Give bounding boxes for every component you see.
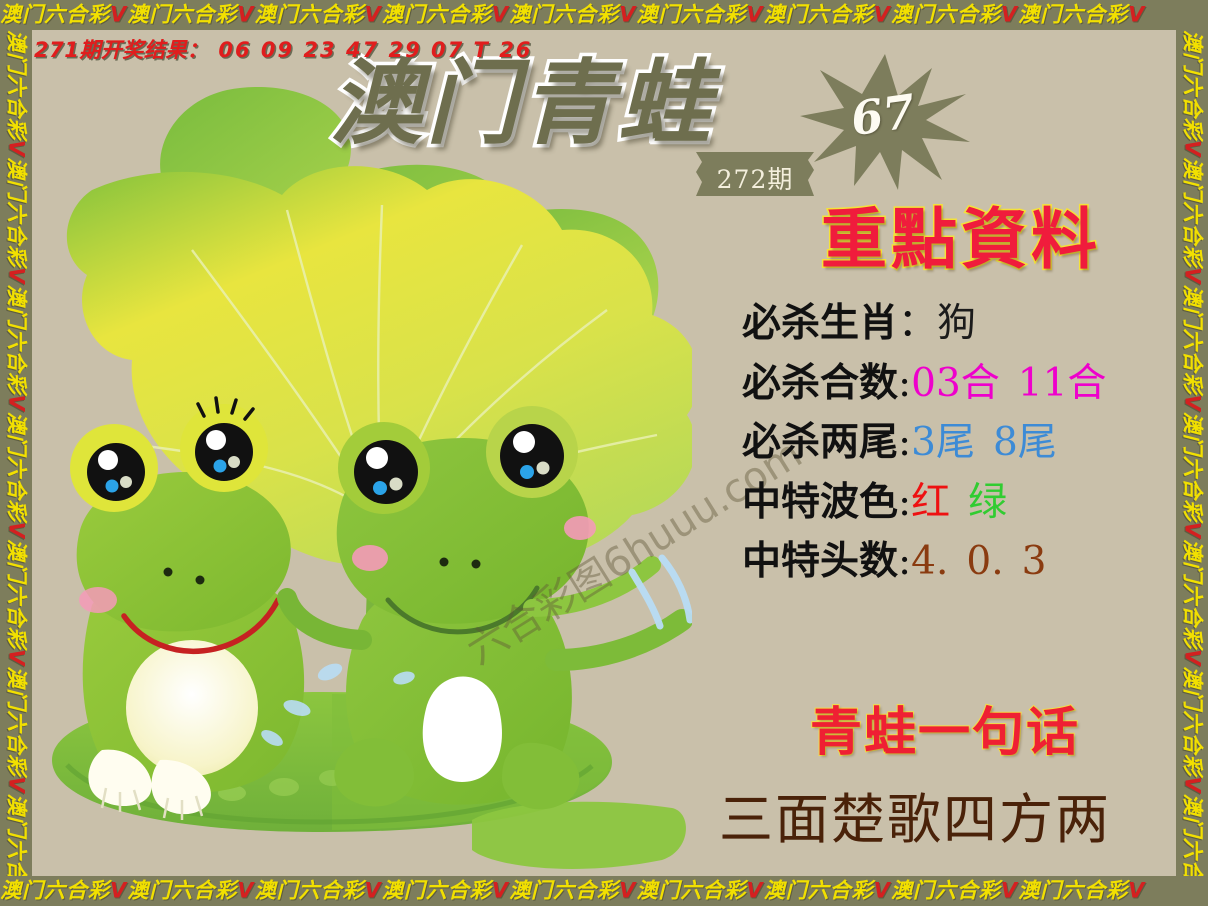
info-row-value: 红 [911,480,950,525]
border-word: 澳门六合彩 [255,3,365,27]
info-row-value: 狗 [937,301,976,346]
border-v-mark: V [492,879,509,903]
border-word: 澳门六合彩 [5,794,29,876]
draw-result-line: 271期开奖结果：06 09 23 47 29 07 T 26 [34,34,532,64]
border-word: 澳门六合彩 [127,3,237,27]
key-info-rows: 必杀生肖：狗必杀合数:03合11合必杀两尾:3尾8尾中特波色:红绿中特头数:4.… [742,294,1190,592]
border-word: 澳门六合彩 [1181,157,1205,267]
border-v-mark: V [746,879,763,903]
panel-heading: 重點資料 [732,205,1190,274]
border-v-mark: V [365,3,382,27]
border-v-mark: V [492,3,509,27]
issue-number: 272期 [690,160,820,196]
border-word: 澳门六合彩 [891,879,1001,903]
border-v-mark: V [5,522,29,539]
border-v-mark: V [619,879,636,903]
border-top-text: 澳门六合彩V澳门六合彩V澳门六合彩V澳门六合彩V澳门六合彩V澳门六合彩V澳门六合… [0,5,1145,26]
info-row: 必杀两尾:3尾8尾 [742,413,1190,473]
border-v-mark: V [1128,879,1145,903]
border-v-mark: V [1181,776,1205,793]
border-right: 澳门六合彩V澳门六合彩V澳门六合彩V澳门六合彩V澳门六合彩V澳门六合彩V澳门六合… [1176,30,1208,876]
border-word: 澳门六合彩 [5,30,29,140]
border-word: 澳门六合彩 [5,157,29,267]
border-v-mark: V [1181,649,1205,666]
poster-canvas: 澳门青蛙 67 272期 271期开奖结果：06 09 23 47 29 07 … [0,0,1208,906]
border-right-text: 澳门六合彩V澳门六合彩V澳门六合彩V澳门六合彩V澳门六合彩V澳门六合彩V澳门六合… [1182,30,1203,876]
border-word: 澳门六合彩 [0,879,110,903]
info-row-value: 绿 [968,480,1007,525]
border-word: 澳门六合彩 [764,3,874,27]
saying-text: 三面楚歌四方两 [640,775,1190,854]
info-row-value: 3 [1022,539,1047,584]
border-v-mark: V [237,3,254,27]
border-v-mark: V [5,140,29,157]
border-v-mark: V [237,879,254,903]
border-v-mark: V [1001,3,1018,27]
info-row: 必杀生肖：狗 [742,294,1190,354]
info-row: 必杀合数:03合11合 [742,354,1190,414]
border-v-mark: V [619,3,636,27]
info-row-separator: : [898,539,911,584]
border-word: 澳门六合彩 [1181,794,1205,876]
border-left: 澳门六合彩V澳门六合彩V澳门六合彩V澳门六合彩V澳门六合彩V澳门六合彩V澳门六合… [0,30,32,876]
border-v-mark: V [1128,3,1145,27]
info-row-value: 0. [966,539,1003,584]
draw-result-numbers: 06 09 23 47 29 07 T 26 [218,38,532,62]
border-word: 澳门六合彩 [382,879,492,903]
info-row-label: 中特波色 [742,479,898,525]
info-row-separator: : [898,480,911,525]
border-v-mark: V [1001,879,1018,903]
info-row-label: 中特头数 [742,538,898,584]
info-row-separator: : [898,420,911,465]
border-word: 澳门六合彩 [5,285,29,395]
info-row: 中特波色:红绿 [742,473,1190,533]
info-row-value: 03合 [911,361,1000,406]
key-info-panel: 重點資料 必杀生肖：狗必杀合数:03合11合必杀两尾:3尾8尾中特波色:红绿中特… [700,205,1190,592]
border-v-mark: V [110,3,127,27]
page-title: 澳门青蛙 [330,58,714,150]
info-row-value: 8尾 [993,420,1057,465]
border-word: 澳门六合彩 [1181,30,1205,140]
frog-illustration [32,60,692,870]
border-word: 澳门六合彩 [382,3,492,27]
border-v-mark: V [1181,140,1205,157]
border-v-mark: V [746,3,763,27]
border-word: 澳门六合彩 [1181,666,1205,776]
border-v-mark: V [1181,267,1205,284]
border-v-mark: V [1181,522,1205,539]
info-row-label: 必杀生肖 [742,300,898,346]
info-row-separator: ： [898,301,937,346]
info-row-label: 必杀两尾 [742,419,898,465]
border-word: 澳门六合彩 [0,3,110,27]
border-word: 澳门六合彩 [255,879,365,903]
border-left-text: 澳门六合彩V澳门六合彩V澳门六合彩V澳门六合彩V澳门六合彩V澳门六合彩V澳门六合… [6,30,27,876]
border-v-mark: V [1181,395,1205,412]
border-word: 澳门六合彩 [1181,412,1205,522]
saying-heading: 青蛙一句话 [700,690,1190,765]
border-v-mark: V [5,267,29,284]
info-row-value: 11合 [1018,361,1107,406]
border-v-mark: V [365,879,382,903]
border-word: 澳门六合彩 [1018,879,1128,903]
border-word: 澳门六合彩 [891,3,1001,27]
border-top: 澳门六合彩V澳门六合彩V澳门六合彩V澳门六合彩V澳门六合彩V澳门六合彩V澳门六合… [0,0,1208,30]
border-v-mark: V [5,395,29,412]
border-bottom-text: 澳门六合彩V澳门六合彩V澳门六合彩V澳门六合彩V澳门六合彩V澳门六合彩V澳门六合… [0,881,1145,902]
info-row: 中特头数:4.0.3 [742,532,1190,592]
border-word: 澳门六合彩 [509,3,619,27]
border-v-mark: V [110,879,127,903]
border-word: 澳门六合彩 [5,412,29,522]
border-word: 澳门六合彩 [1018,3,1128,27]
border-word: 澳门六合彩 [636,879,746,903]
border-word: 澳门六合彩 [509,879,619,903]
border-v-mark: V [874,3,891,27]
border-word: 澳门六合彩 [764,879,874,903]
border-v-mark: V [874,879,891,903]
border-v-mark: V [5,649,29,666]
border-word: 澳门六合彩 [636,3,746,27]
border-word: 澳门六合彩 [1181,539,1205,649]
info-row-label: 必杀合数 [742,360,898,406]
border-word: 澳门六合彩 [5,666,29,776]
border-word: 澳门六合彩 [127,879,237,903]
info-row-value: 3尾 [911,420,975,465]
border-v-mark: V [5,776,29,793]
draw-result-prefix: 271期开奖结果： [34,38,208,62]
info-row-value: 4. [911,539,948,584]
info-row-separator: : [898,361,911,406]
border-word: 澳门六合彩 [5,539,29,649]
border-bottom: 澳门六合彩V澳门六合彩V澳门六合彩V澳门六合彩V澳门六合彩V澳门六合彩V澳门六合… [0,876,1208,906]
border-word: 澳门六合彩 [1181,285,1205,395]
